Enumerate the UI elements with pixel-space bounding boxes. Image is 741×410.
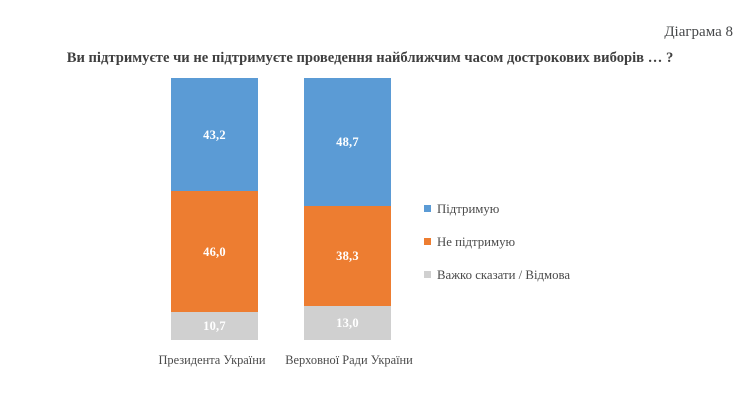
- chart-plot-area: 43,2 46,0 10,7 48,7 38,3 13,0 Президента…: [150, 100, 450, 380]
- bar-value-label: 43,2: [203, 128, 226, 142]
- legend-item-vazhko-skazaty-vidmova[interactable]: Важко сказати / Відмова: [424, 258, 654, 291]
- bar-value-label: 48,7: [336, 135, 359, 149]
- legend-item-pidtrymuyu[interactable]: Підтримую: [424, 192, 654, 225]
- category-label-0: Президента України: [142, 352, 282, 368]
- legend-swatch-square-icon: [424, 238, 431, 245]
- bar-column-prezydenta-ukrainy[interactable]: 43,2 46,0 10,7: [171, 78, 258, 340]
- legend-item-label: Не підтримую: [437, 234, 515, 250]
- bar-value-label: 46,0: [203, 245, 226, 259]
- legend-item-label: Важко сказати / Відмова: [437, 267, 570, 283]
- bar-segment-ne-pidtrymuyu-1[interactable]: 38,3: [304, 206, 391, 306]
- legend-swatch-square-icon: [424, 271, 431, 278]
- bar-column-verkhovnoi-rady-ukrainy[interactable]: 48,7 38,3 13,0: [304, 78, 391, 340]
- bar-segment-pidtrymuyu-1[interactable]: 48,7: [304, 78, 391, 206]
- bar-segment-ne-pidtrymuyu-0[interactable]: 46,0: [171, 191, 258, 312]
- figure-number: Діаграма 8: [433, 23, 733, 41]
- bar-value-label: 38,3: [336, 249, 359, 263]
- chart-legend: Підтримую Не підтримую Важко сказати / В…: [424, 192, 654, 291]
- legend-swatch-square-icon: [424, 205, 431, 212]
- bar-value-label: 10,7: [203, 319, 226, 333]
- bar-segment-vazhko-skazaty-0[interactable]: 10,7: [171, 312, 258, 340]
- bar-value-label: 13,0: [336, 316, 359, 330]
- legend-item-label: Підтримую: [437, 201, 499, 217]
- legend-item-ne-pidtrymuyu[interactable]: Не підтримую: [424, 225, 654, 258]
- chart-title: Ви підтримуєте чи не підтримуєте проведе…: [50, 49, 690, 68]
- category-label-1: Верховної Ради України: [274, 352, 424, 368]
- bar-segment-vazhko-skazaty-1[interactable]: 13,0: [304, 306, 391, 340]
- bar-segment-pidtrymuyu-0[interactable]: 43,2: [171, 78, 258, 191]
